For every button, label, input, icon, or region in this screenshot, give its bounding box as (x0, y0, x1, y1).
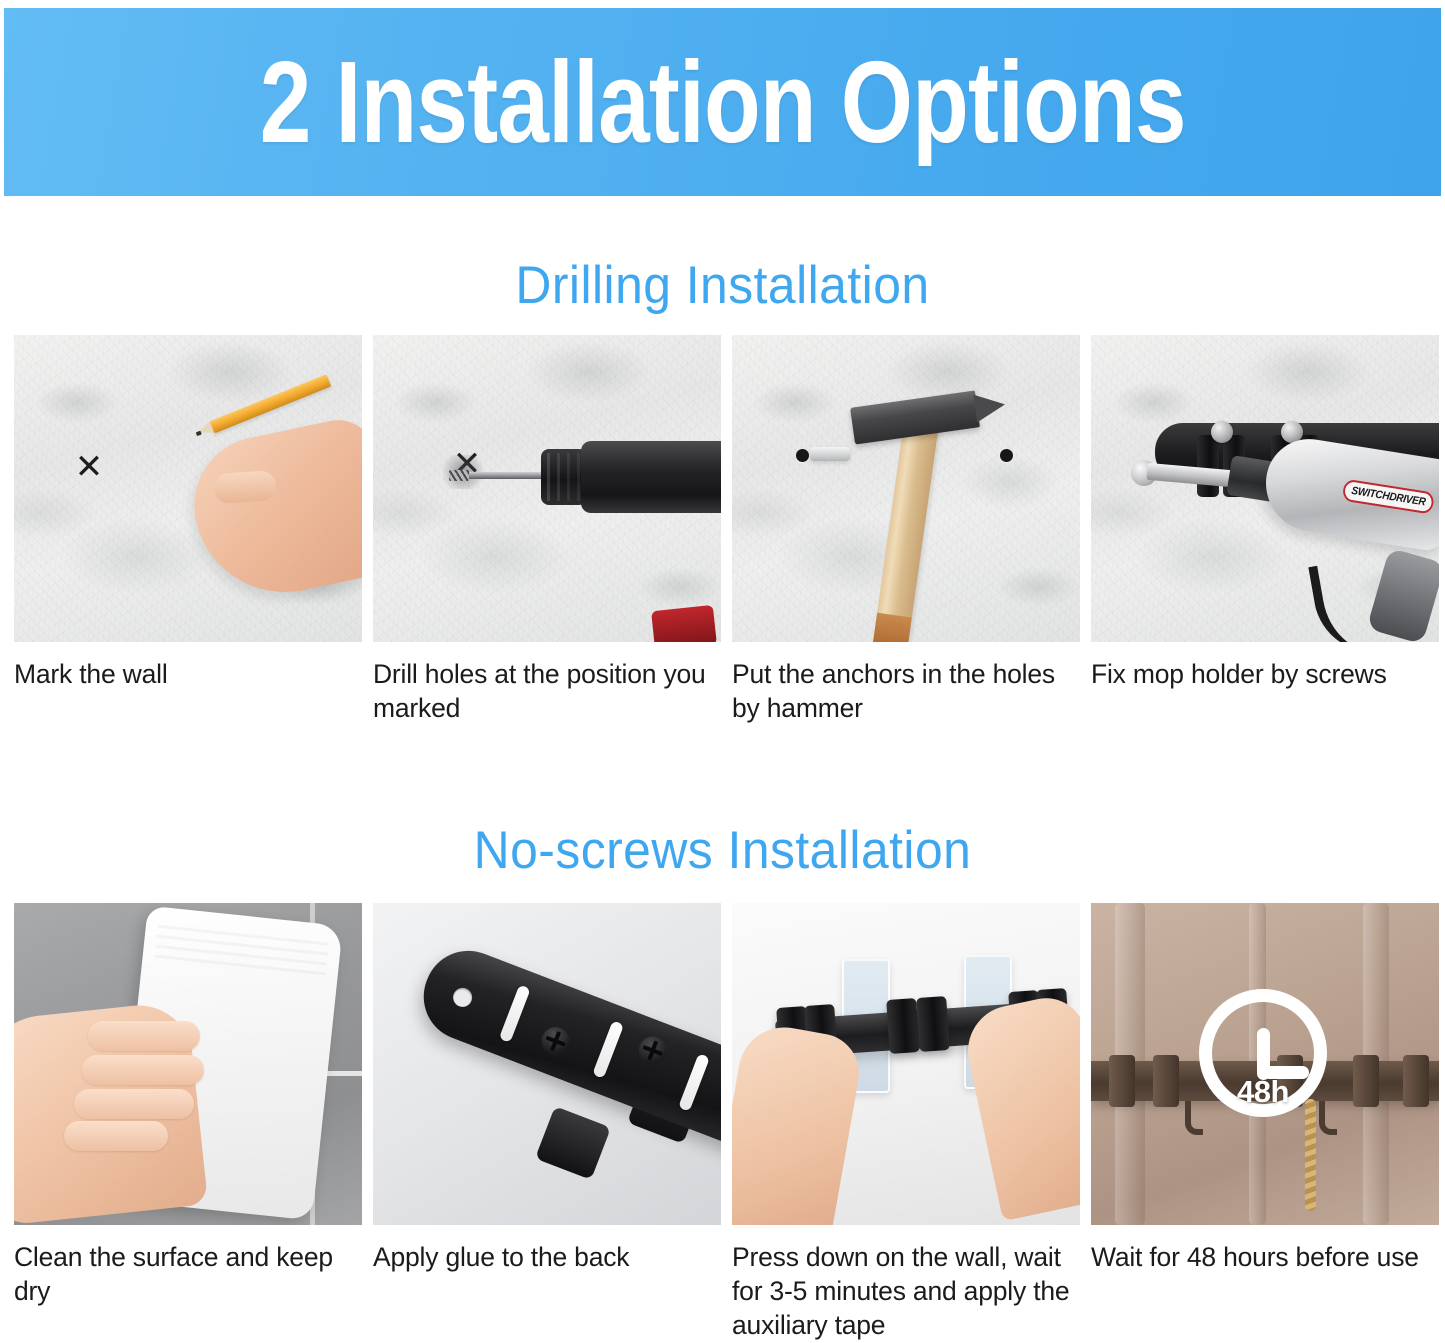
finger-illustration (74, 1089, 194, 1119)
glue-strip (678, 1053, 710, 1111)
step-wait-48-hours: 48h Wait for 48 hours before use (1091, 903, 1439, 1343)
holder-clip (1153, 1055, 1179, 1107)
step-caption: Clean the surface and keep dry (14, 1241, 362, 1309)
photo-put-anchors (732, 335, 1080, 642)
clock-icon: 48h (1199, 989, 1327, 1117)
drilled-hole (1000, 449, 1013, 462)
phillips-screw-icon (538, 1023, 574, 1059)
step-caption: Wait for 48 hours before use (1091, 1241, 1439, 1275)
drilled-hole (796, 449, 809, 462)
holder-clip (1353, 1055, 1379, 1107)
holder-hook (1319, 1101, 1337, 1135)
step-caption: Fix mop holder by screws (1091, 658, 1439, 692)
step-caption: Put the anchors in the holes by hammer (732, 658, 1080, 726)
step-put-anchors: Put the anchors in the holes by hammer (732, 335, 1080, 726)
holder-clip (886, 998, 920, 1054)
photo-press-down (732, 903, 1080, 1225)
drilling-steps-row: ✕ ✕ Mark the wall ✕ ✕ Drill holes at the… (14, 335, 1431, 726)
photo-mark-the-wall: ✕ ✕ (14, 335, 362, 642)
photo-clean-surface (14, 903, 362, 1225)
holder-clip (1403, 1055, 1429, 1107)
x-mark-icon: ✕ (74, 452, 104, 482)
section-title-drilling: Drilling Installation (43, 255, 1401, 316)
step-apply-glue: Apply glue to the back (373, 903, 721, 1343)
page-header-banner: 2 Installation Options (4, 8, 1441, 196)
step-caption: Mark the wall (14, 658, 362, 692)
glue-strip (499, 984, 531, 1042)
photo-wait-48-hours: 48h (1091, 903, 1439, 1225)
step-fix-by-screws: SWITCHDRIVER Fix mop holder by screws (1091, 335, 1439, 726)
photo-apply-glue (373, 903, 721, 1225)
step-drill-holes: ✕ ✕ Drill holes at the position you mark… (373, 335, 721, 726)
drill-bit-icon (465, 472, 551, 479)
section-title-no-screws: No-screws Installation (43, 820, 1401, 881)
holder-hook (1185, 1101, 1203, 1135)
step-clean-surface: Clean the surface and keep dry (14, 903, 362, 1343)
mounting-hole (450, 985, 475, 1010)
phillips-screw-icon (635, 1032, 671, 1068)
holder-roller (1197, 435, 1219, 497)
step-caption: Drill holes at the position you marked (373, 658, 721, 726)
page-title: 2 Installation Options (260, 44, 1186, 160)
holder-clip (1109, 1055, 1135, 1107)
wall-anchor-icon (810, 447, 850, 461)
finger-illustration (82, 1055, 204, 1085)
step-caption: Apply glue to the back (373, 1241, 721, 1275)
step-mark-the-wall: ✕ ✕ Mark the wall (14, 335, 362, 726)
finger-illustration (64, 1121, 168, 1151)
tool-brand-badge: SWITCHDRIVER (1342, 479, 1436, 515)
holder-clip (916, 996, 950, 1052)
power-drill-icon (581, 441, 721, 513)
photo-fix-by-screws: SWITCHDRIVER (1091, 335, 1439, 642)
mop-rope (1305, 1099, 1316, 1211)
clock-duration-label: 48h (1212, 1074, 1314, 1110)
photo-drill-holes: ✕ ✕ (373, 335, 721, 642)
screw-head (1211, 421, 1233, 443)
no-screws-steps-row: Clean the surface and keep dry Apply glu… (14, 903, 1431, 1343)
finger-illustration (213, 470, 277, 504)
finger-illustration (88, 1021, 200, 1051)
step-caption: Press down on the wall, wait for 3-5 min… (732, 1241, 1080, 1343)
step-press-down: Press down on the wall, wait for 3-5 min… (732, 903, 1080, 1343)
drill-battery (651, 605, 717, 642)
glue-strip (592, 1020, 624, 1078)
